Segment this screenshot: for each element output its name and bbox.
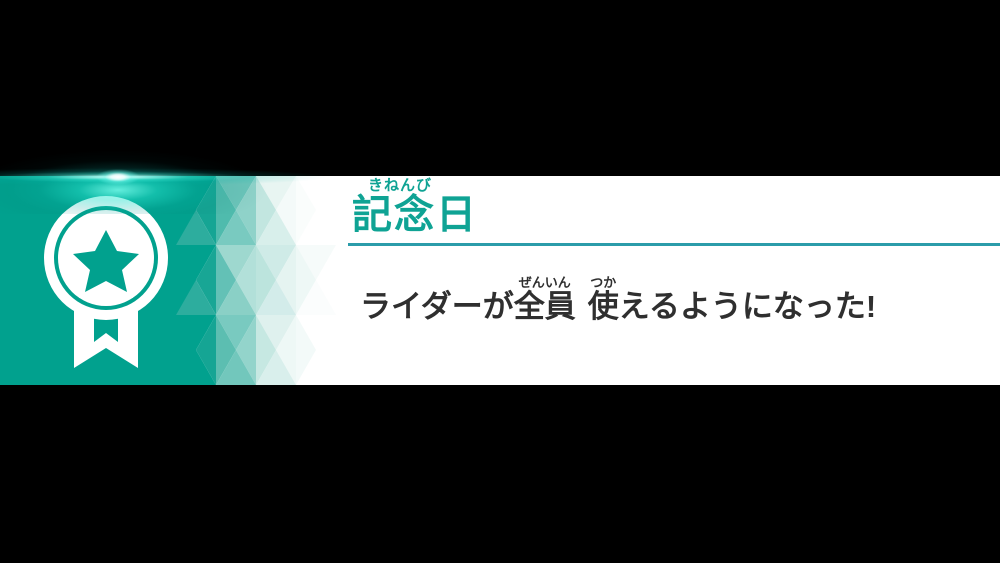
message-segment-ruby-tsuka: つか 使: [588, 276, 619, 324]
message-segment-ruby-zenin: ぜんいん 全員: [514, 276, 576, 324]
title-block: きねんび 記念日: [352, 178, 478, 237]
ruby-text-tsuka: つか: [590, 276, 616, 290]
message-block: ライダーが ぜんいん 全員 つか 使 えるようになった!: [360, 276, 1000, 324]
title-divider: [348, 243, 1000, 246]
banner-content: きねんび 記念日 ライダーが ぜんいん 全員 つか 使 えるようになった!: [348, 176, 1000, 385]
ruby-base-tsuka: 使: [588, 290, 619, 324]
ruby-base-zenin: 全員: [514, 290, 576, 324]
message-segment-plain: ライダーが: [360, 290, 514, 324]
message-line: ライダーが ぜんいん 全員 つか 使 えるようになった!: [360, 276, 1000, 324]
medal-badge-star-icon: [38, 190, 174, 372]
title-furigana: きねんび: [368, 178, 478, 193]
game-screen: きねんび 記念日 ライダーが ぜんいん 全員 つか 使 えるようになった!: [0, 0, 1000, 563]
message-segment-plain-tail: えるようになった!: [619, 290, 876, 324]
triangle-mosaic-pattern: [176, 176, 336, 385]
page-title: 記念日: [352, 193, 478, 237]
ruby-text-zenin: ぜんいん: [519, 276, 571, 290]
letterbox-top: [0, 0, 1000, 176]
letterbox-bottom: [0, 385, 1000, 563]
